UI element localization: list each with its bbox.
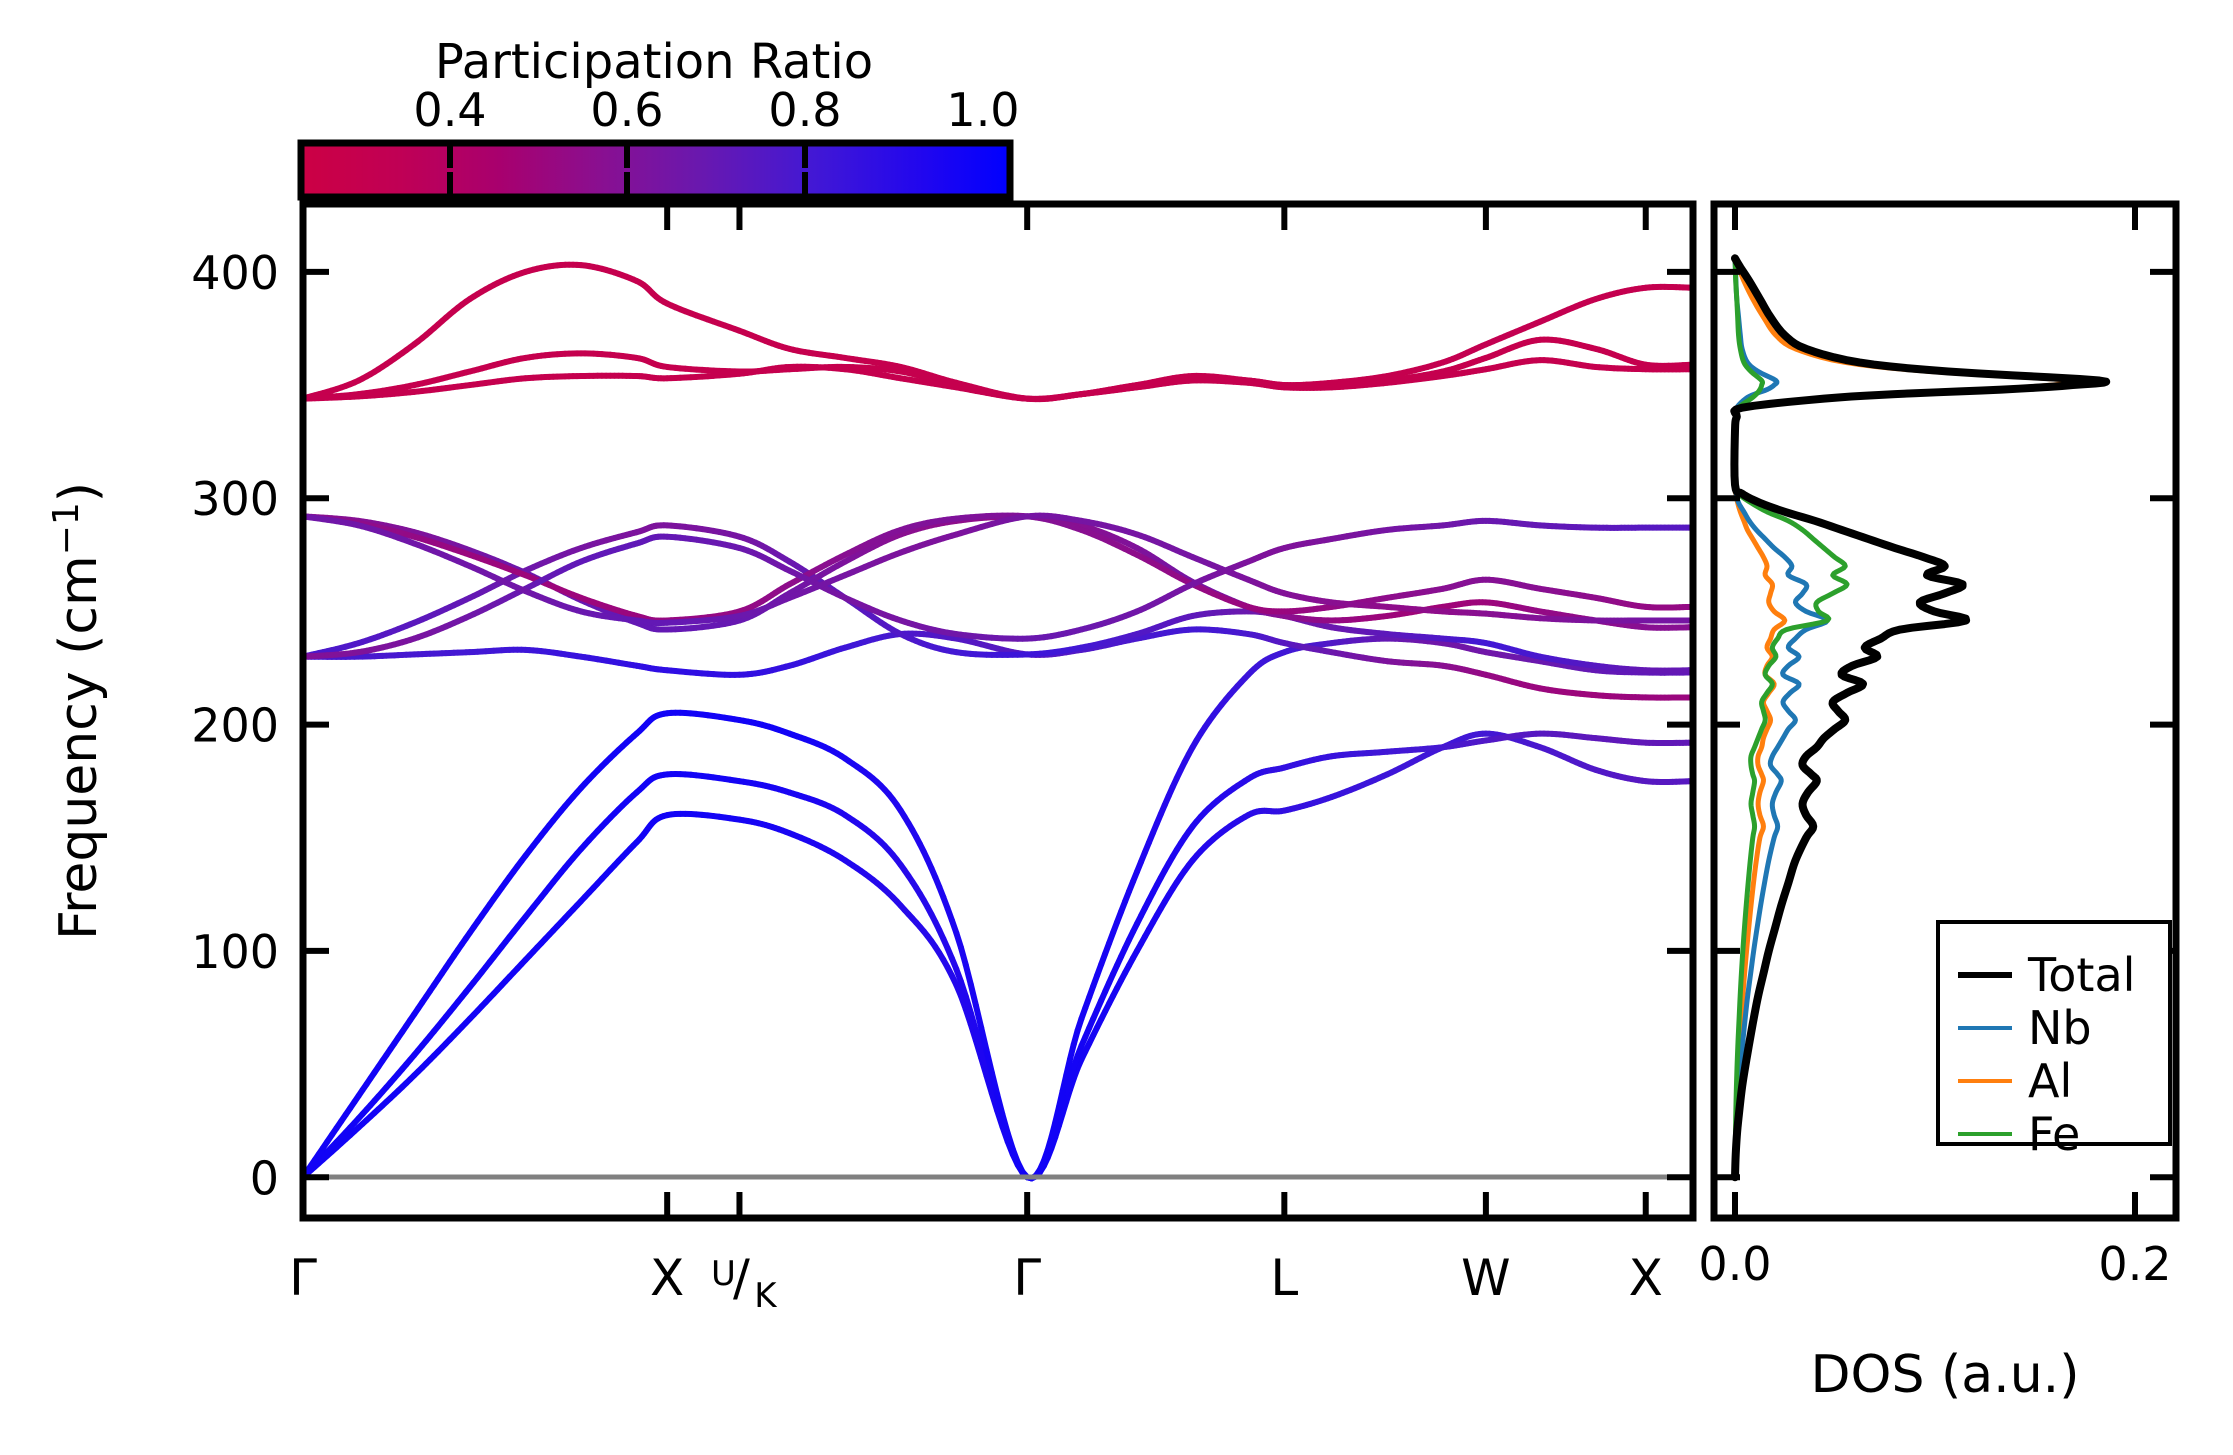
colorbar-tick-label-2: 0.8 <box>768 83 841 137</box>
legend-label-nb: Nb <box>2028 1001 2092 1055</box>
colorbar-gradient <box>301 143 1010 197</box>
band-y-tick-label-0: 0 <box>250 1151 279 1205</box>
svg-text:K: K <box>754 1276 778 1316</box>
dos-legend: TotalNbAlFe <box>1938 922 2170 1161</box>
band-y-tick-label-2: 200 <box>191 699 279 753</box>
colorbar-tick-label-1: 0.6 <box>590 83 663 137</box>
band-x-tick-label-6: X <box>1629 1249 1663 1307</box>
band-y-tick-label-1: 100 <box>191 925 279 979</box>
band-y-tick-label-3: 300 <box>191 472 279 526</box>
dos-xtick-label-0: 0.0 <box>1698 1237 1771 1291</box>
band-x-tick-label-1: X <box>650 1249 684 1307</box>
figure-background <box>0 0 2233 1455</box>
colorbar-title: Participation Ratio <box>435 34 873 90</box>
colorbar-tick-label-0: 0.4 <box>413 83 486 137</box>
legend-label-al: Al <box>2028 1054 2072 1108</box>
legend-label-fe: Fe <box>2028 1107 2080 1161</box>
svg-text:/: / <box>733 1249 750 1307</box>
band-x-tick-label-0: Γ <box>289 1249 317 1307</box>
figure-svg: Participation Ratio 0.4 0.6 0.8 1.0 0100… <box>0 0 2233 1455</box>
dos-xtick-label-1: 0.2 <box>2098 1237 2171 1291</box>
phonon-figure: Participation Ratio 0.4 0.6 0.8 1.0 0100… <box>0 0 2233 1455</box>
band-y-tick-label-4: 400 <box>191 246 279 300</box>
dos-axis-label: DOS (a.u.) <box>1811 1345 2080 1405</box>
band-x-tick-label-4: L <box>1270 1249 1298 1307</box>
colorbar-tick-label-3: 1.0 <box>946 83 1019 137</box>
band-x-tick-label-3: Γ <box>1013 1249 1041 1307</box>
band-x-tick-label-5: W <box>1461 1249 1510 1307</box>
legend-label-total: Total <box>2027 948 2135 1002</box>
